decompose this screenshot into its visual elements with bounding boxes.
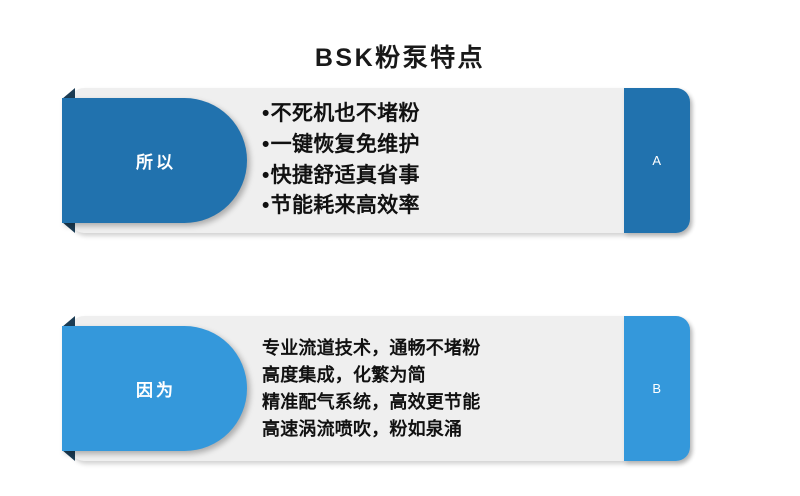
row-a-pill-group: 所以 <box>62 98 247 223</box>
slide-canvas: BSK粉泵特点 A 所以 •不死机也不堵粉 •一键恢复免维护 •快捷舒适真省事 … <box>0 0 800 496</box>
list-item: 专业流道技术，通畅不堵粉 <box>262 335 642 362</box>
list-item-text: 不死机也不堵粉 <box>271 102 420 125</box>
row-b-cap-letter: B <box>652 381 661 396</box>
fold-bottom-icon <box>62 222 75 233</box>
list-item: •节能耗来高效率 <box>262 191 622 222</box>
row-b-pill-group: 因为 <box>62 326 247 451</box>
row-a-pill-label: 所以 <box>133 148 176 173</box>
list-item-text: 一键恢复免维护 <box>271 133 420 156</box>
list-item: •不死机也不堵粉 <box>262 99 622 130</box>
list-item-text: 快捷舒适真省事 <box>271 164 420 187</box>
row-b-content: 专业流道技术，通畅不堵粉 高度集成，化繁为简 精准配气系统，高效更节能 高速涡流… <box>262 316 642 461</box>
list-item: 高速涡流喷吹，粉如泉涌 <box>262 416 642 443</box>
list-item: 精准配气系统，高效更节能 <box>262 389 642 416</box>
diagram-row-a: A 所以 •不死机也不堵粉 •一键恢复免维护 •快捷舒适真省事 •节能耗来高效率 <box>70 88 690 233</box>
list-item: •一键恢复免维护 <box>262 130 622 161</box>
row-a-content: •不死机也不堵粉 •一键恢复免维护 •快捷舒适真省事 •节能耗来高效率 <box>262 88 622 233</box>
row-a-cap[interactable]: A <box>624 88 690 233</box>
diagram-row-b: B 因为 专业流道技术，通畅不堵粉 高度集成，化繁为简 精准配气系统，高效更节能… <box>70 316 690 461</box>
page-title: BSK粉泵特点 <box>0 38 800 74</box>
bullet-icon: • <box>262 133 271 156</box>
bullet-icon: • <box>262 102 271 125</box>
list-item-text: 节能耗来高效率 <box>271 194 420 217</box>
row-a-cap-letter: A <box>652 153 661 168</box>
row-b-pill[interactable]: 因为 <box>62 326 247 451</box>
row-a-pill[interactable]: 所以 <box>62 98 247 223</box>
bullet-icon: • <box>262 164 271 187</box>
list-item: •快捷舒适真省事 <box>262 161 622 192</box>
list-item: 高度集成，化繁为简 <box>262 362 642 389</box>
row-b-pill-label: 因为 <box>133 376 176 401</box>
bullet-icon: • <box>262 194 271 217</box>
fold-bottom-icon <box>62 450 75 461</box>
